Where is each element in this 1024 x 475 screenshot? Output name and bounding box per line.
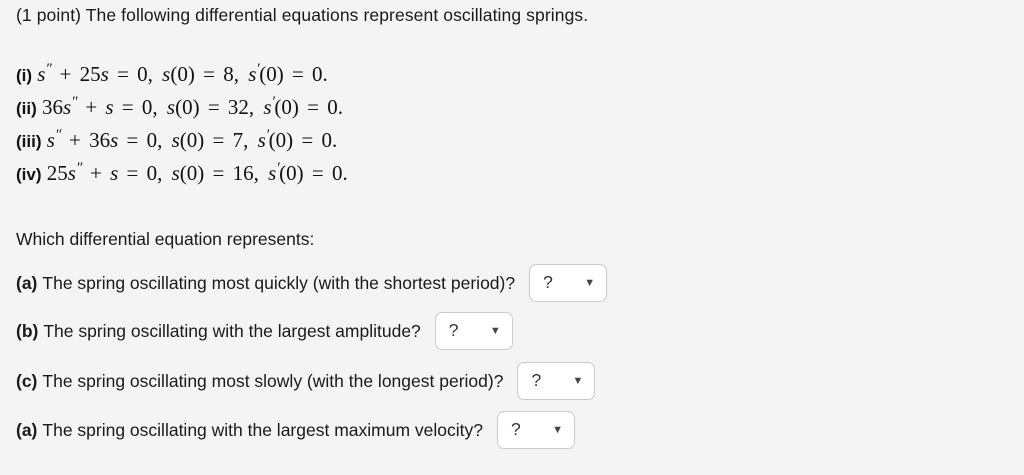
question-text: The spring oscillating most slowly (with… [42,371,503,392]
equals-symbol: = [210,161,228,185]
dropdown-value: ? [511,421,521,439]
equals-symbol: = [289,62,307,86]
equation-variable: s [172,128,180,152]
equals-symbol: = [309,161,327,185]
close-paren: ) [286,128,293,152]
which-prompt: Which differential equation represents: [16,228,314,250]
zero-value: 0 [327,95,338,119]
initial-position-value: 32 [228,95,249,119]
zero-value: 0 [182,95,193,119]
question-label: (a) [16,420,37,441]
zero-value: 0 [281,95,292,119]
dropdown-value: ? [543,274,553,292]
comma-symbol: , [157,128,166,152]
period-symbol: . [323,62,328,86]
initial-position-value: 16 [233,161,254,185]
equation-variable: s [110,128,118,152]
problem-intro: (1 point) The following differential equ… [16,4,588,26]
period-symbol: . [342,161,347,185]
equation-coefficient-sdd: 25 [47,161,68,185]
close-paren: ) [277,62,284,86]
problem-page: (1 point) The following differential equ… [0,0,1024,475]
equation-tag: (iv) [16,165,42,184]
question-text: The spring oscillating most quickly (wit… [42,273,515,294]
zero-value: 0 [137,62,148,86]
comma-symbol: , [254,161,263,185]
equation-variable: s [63,95,71,119]
chevron-down-icon: ▼ [573,376,584,387]
zero-value: 0 [276,128,287,152]
equation-item-iv: (iv) 25s″ + s = 0, s(0) = 16, s′(0) = 0. [16,155,348,188]
equals-symbol: = [298,128,316,152]
period-symbol: . [332,128,337,152]
zero-value: 0 [147,128,158,152]
zero-value: 0 [147,161,158,185]
equation-tag: (ii) [16,99,37,118]
zero-value: 0 [321,128,332,152]
open-paren: ( [180,128,187,152]
equation-variable: s [47,128,55,152]
zero-value: 0 [286,161,297,185]
equation-variable: s [263,95,271,119]
zero-value: 0 [187,161,198,185]
equals-symbol: = [119,95,137,119]
equation-variable: s [110,161,118,185]
plus-symbol: + [87,161,105,185]
question-row-d: (a) The spring oscillating with the larg… [16,411,575,449]
question-text: The spring oscillating with the largest … [42,420,483,441]
answer-dropdown-b[interactable]: ? ▼ [435,312,513,350]
comma-symbol: , [157,161,166,185]
chevron-down-icon: ▼ [584,278,595,289]
plus-symbol: + [66,128,84,152]
question-label: (b) [16,321,38,342]
zero-value: 0 [312,62,323,86]
equation-tag: (i) [16,66,32,85]
equals-symbol: = [124,128,142,152]
equals-symbol: = [205,95,223,119]
equation-variable: s [172,161,180,185]
open-paren: ( [269,128,276,152]
close-paren: ) [292,95,299,119]
chevron-down-icon: ▼ [490,326,501,337]
open-paren: ( [180,161,187,185]
comma-symbol: , [243,128,252,152]
comma-symbol: , [234,62,243,86]
double-prime-symbol: ″ [76,160,82,176]
comma-symbol: , [152,95,161,119]
question-text: The spring oscillating with the largest … [43,321,420,342]
equation-item-i: (i) s″ + 25s = 0, s(0) = 8, s′(0) = 0. [16,56,348,89]
equation-variable: s [68,161,76,185]
close-paren: ) [193,95,200,119]
dropdown-value: ? [449,322,459,340]
equation-variable: s [258,128,266,152]
close-paren: ) [197,128,204,152]
zero-value: 0 [187,128,198,152]
double-prime-symbol: ″ [45,61,51,77]
comma-symbol: , [148,62,157,86]
equals-symbol: = [200,62,218,86]
equation-coefficient-sdd: 36 [42,95,63,119]
equation-coefficient-s: 25 [80,62,101,86]
question-row-b: (b) The spring oscillating with the larg… [16,312,513,350]
equation-tag: (iii) [16,132,42,151]
question-label: (a) [16,273,37,294]
close-paren: ) [188,62,195,86]
equation-item-iii: (iii) s″ + 36s = 0, s(0) = 7, s′(0) = 0. [16,122,348,155]
zero-value: 0 [332,161,343,185]
double-prime-symbol: ″ [55,127,61,143]
close-paren: ) [297,161,304,185]
dropdown-value: ? [531,372,541,390]
initial-position-value: 8 [223,62,234,86]
equals-symbol: = [304,95,322,119]
equation-variable: s [167,95,175,119]
equation-item-ii: (ii) 36s″ + s = 0, s(0) = 32, s′(0) = 0. [16,89,348,122]
period-symbol: . [338,95,343,119]
plus-symbol: + [82,95,100,119]
question-row-a: (a) The spring oscillating most quickly … [16,264,607,302]
comma-symbol: , [249,95,258,119]
equation-variable: s [105,95,113,119]
answer-dropdown-a[interactable]: ? ▼ [529,264,607,302]
question-label: (c) [16,371,37,392]
equation-list: (i) s″ + 25s = 0, s(0) = 8, s′(0) = 0. (… [16,56,348,188]
equals-symbol: = [210,128,228,152]
double-prime-symbol: ″ [71,94,77,110]
initial-position-value: 7 [233,128,244,152]
equals-symbol: = [124,161,142,185]
zero-value: 0 [142,95,153,119]
zero-value: 0 [266,62,277,86]
answer-dropdown-d[interactable]: ? ▼ [497,411,575,449]
plus-symbol: + [57,62,75,86]
chevron-down-icon: ▼ [552,425,563,436]
equals-symbol: = [114,62,132,86]
close-paren: ) [197,161,204,185]
equation-coefficient-s: 36 [89,128,110,152]
equation-variable: s [101,62,109,86]
zero-value: 0 [177,62,188,86]
answer-dropdown-c[interactable]: ? ▼ [517,362,595,400]
question-row-c: (c) The spring oscillating most slowly (… [16,362,595,400]
